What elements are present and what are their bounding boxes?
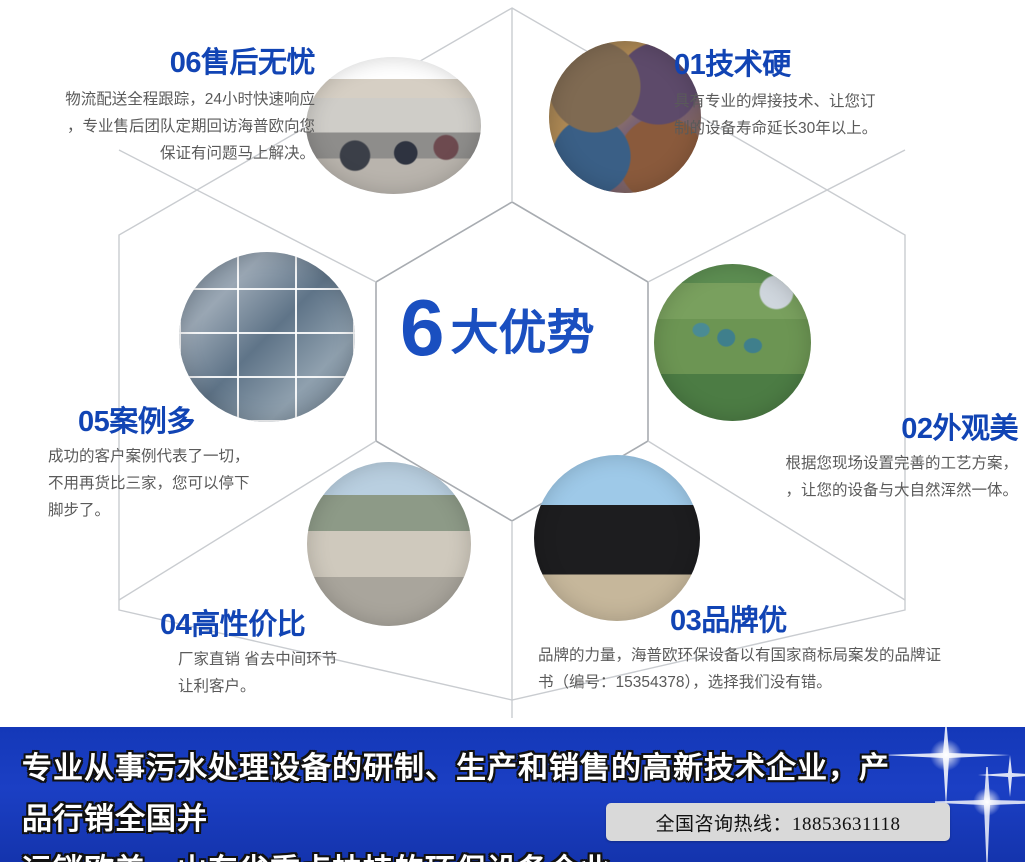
photo-vignette — [534, 455, 700, 621]
feature-photo-05 — [179, 252, 355, 422]
feature-line-01-1: 具有专业的焊接技术、让您订 — [674, 88, 1014, 115]
center-number: 6 — [400, 283, 443, 372]
banner-line-2: 远销欧美，山东省重点扶持的环保设备企业。 — [22, 845, 902, 862]
bottom-banner: 专业从事污水处理设备的研制、生产和销售的高新技术企业，产品行销全国并 远销欧美，… — [0, 727, 1025, 862]
hotline-box[interactable]: 全国咨询热线：18853631118 — [606, 803, 950, 841]
feature-photo-02 — [654, 264, 811, 421]
feature-line-03-1: 品牌的力量，海普欧环保设备以有国家商标局案发的品牌证 — [538, 642, 1024, 669]
feature-block-06: 06售后无忧 物流配送全程跟踪，24小时快速响应 ，专业售后团队定期回访海普欧向… — [10, 46, 315, 167]
infographic-page: 06售后无忧 物流配送全程跟踪，24小时快速响应 ，专业售后团队定期回访海普欧向… — [0, 0, 1025, 862]
center-text: 大优势 — [451, 307, 595, 360]
feature-body-03: 品牌的力量，海普欧环保设备以有国家商标局案发的品牌证 书（编号：15354378… — [538, 642, 1024, 696]
photo-vignette — [654, 264, 811, 421]
feature-line-04-1: 厂家直销 省去中间环节 — [178, 646, 490, 673]
feature-line-03-2: 书（编号：15354378），选择我们没有错。 — [538, 669, 1024, 696]
feature-line-01-2: 制的设备寿命延长30年以上。 — [674, 115, 1014, 142]
feature-heading-05: 05案例多 — [78, 405, 408, 439]
feature-photo-06 — [306, 57, 481, 194]
feature-photo-03 — [534, 455, 700, 621]
feature-block-03: 03品牌优 — [670, 604, 1020, 638]
feature-block-05: 05案例多 成功的客户案例代表了一切， 不用再货比三家，您可以停下 脚步了。 — [78, 405, 408, 524]
feature-heading-04: 04高性价比 — [160, 608, 490, 642]
feature-line-04-2: 让利客户。 — [178, 673, 490, 700]
sparkle-icon-small — [970, 747, 1025, 817]
feature-line-06-2: ，专业售后团队定期回访海普欧向您 — [10, 113, 315, 140]
feature-line-05-1: 成功的客户案例代表了一切， — [48, 443, 408, 470]
feature-block-04: 04高性价比 厂家直销 省去中间环节 让利客户。 — [160, 608, 490, 700]
feature-line-05-2: 不用再货比三家，您可以停下 — [48, 470, 408, 497]
hotline-text: 全国咨询热线：18853631118 — [655, 809, 900, 836]
center-label: 6大优势 — [400, 288, 595, 374]
photo-vignette — [306, 57, 481, 194]
feature-heading-03: 03品牌优 — [670, 604, 1020, 638]
feature-block-01: 01技术硬 具有专业的焊接技术、让您订 制的设备寿命延长30年以上。 — [674, 48, 1014, 142]
feature-heading-06: 06售后无忧 — [10, 46, 315, 80]
feature-line-06-1: 物流配送全程跟踪，24小时快速响应 — [10, 86, 315, 113]
feature-line-06-3: 保证有问题马上解决。 — [10, 140, 315, 167]
feature-heading-02: 02外观美 — [640, 412, 1018, 446]
photo-vignette — [179, 252, 355, 422]
feature-line-05-3: 脚步了。 — [48, 497, 408, 524]
feature-heading-01: 01技术硬 — [674, 48, 1014, 82]
